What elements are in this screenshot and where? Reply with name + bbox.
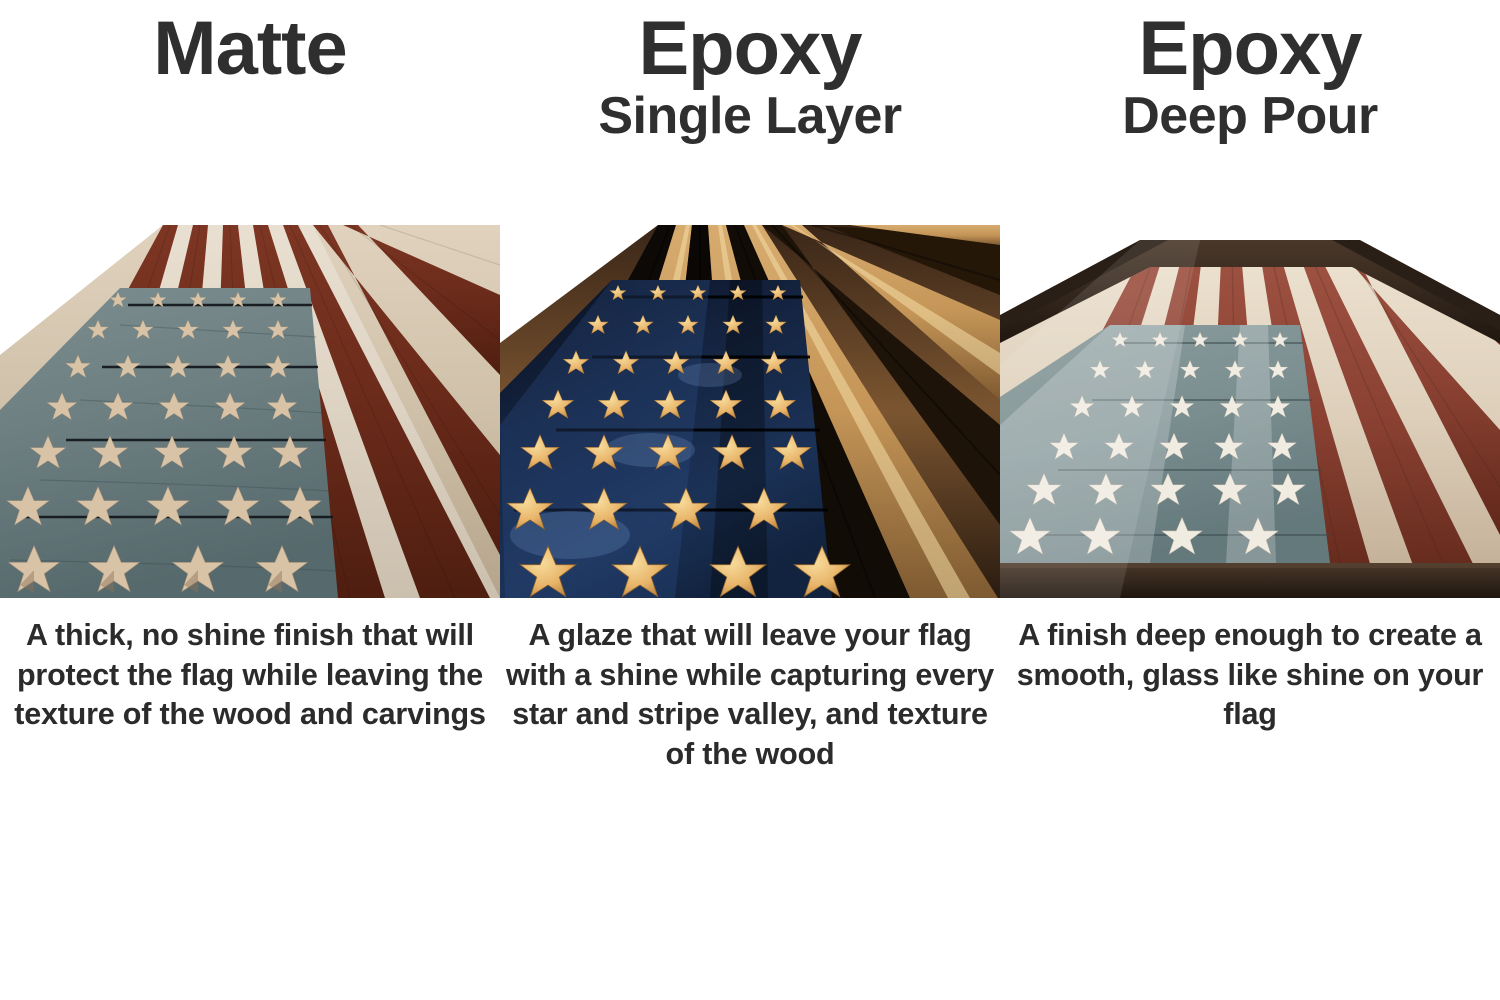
- finish-comparison-board: Matte: [0, 0, 1500, 1000]
- title-main-epoxy-single: Epoxy: [638, 8, 861, 90]
- wooden-flag-epoxy-single-layer-illustration: [500, 225, 1000, 598]
- finish-column-matte: Matte: [0, 0, 500, 1000]
- photo-epoxy-deep-pour: [1000, 225, 1500, 598]
- heading-epoxy-deep-pour: Epoxy Deep Pour: [1000, 0, 1500, 225]
- caption-epoxy-deep-pour: A finish deep enough to create a smooth,…: [1000, 598, 1500, 735]
- heading-matte: Matte: [0, 0, 500, 225]
- caption-matte: A thick, no shine finish that will prote…: [0, 598, 500, 735]
- wooden-flag-epoxy-deep-pour-illustration: [1000, 225, 1500, 598]
- title-main-matte: Matte: [153, 8, 346, 90]
- title-main-epoxy-deep: Epoxy: [1138, 8, 1361, 90]
- title-sub-epoxy-single: Single Layer: [598, 88, 901, 144]
- photo-epoxy-single-layer: [500, 225, 1000, 598]
- finish-column-epoxy-deep-pour: Epoxy Deep Pour: [1000, 0, 1500, 1000]
- title-sub-epoxy-deep: Deep Pour: [1122, 88, 1378, 144]
- photo-matte: [0, 225, 500, 598]
- wooden-flag-matte-illustration: [0, 225, 500, 598]
- heading-epoxy-single-layer: Epoxy Single Layer: [500, 0, 1000, 225]
- caption-epoxy-single-layer: A glaze that will leave your flag with a…: [500, 598, 1000, 775]
- finish-column-epoxy-single-layer: Epoxy Single Layer: [500, 0, 1000, 1000]
